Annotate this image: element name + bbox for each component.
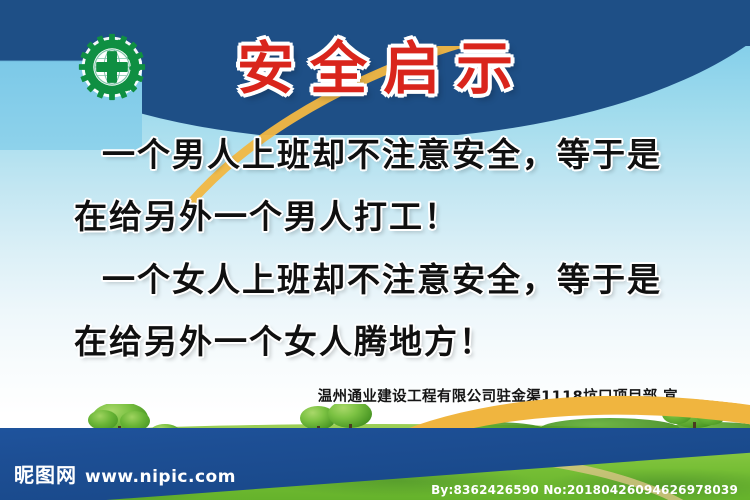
watermark-site-name-cn: 昵图网	[14, 459, 77, 488]
watermark-image-id: By:8362426590 No:20180426094626978039	[431, 483, 738, 497]
safety-poster: 安全启示 一个男人上班却不注意安全，等于是 在给另外一个男人打工！ 一个女人上班…	[0, 0, 750, 500]
poster-title: 安全启示	[0, 38, 750, 100]
body-line-3: 一个女人上班却不注意安全，等于是	[0, 263, 750, 296]
watermark-band: 昵图网 www.nipic.com By:8362426590 No:20180…	[0, 428, 750, 500]
poster-signature: 温州通业建设工程有限公司驻金渠1118坑口项目部 宣	[0, 385, 750, 406]
body-line-1: 一个男人上班却不注意安全，等于是	[0, 138, 750, 171]
body-line-2: 在给另外一个男人打工！	[74, 200, 459, 233]
body-line-4: 在给另外一个女人腾地方！	[74, 325, 494, 358]
watermark-branding: 昵图网 www.nipic.com	[14, 459, 236, 488]
watermark-site-url: www.nipic.com	[85, 467, 236, 487]
